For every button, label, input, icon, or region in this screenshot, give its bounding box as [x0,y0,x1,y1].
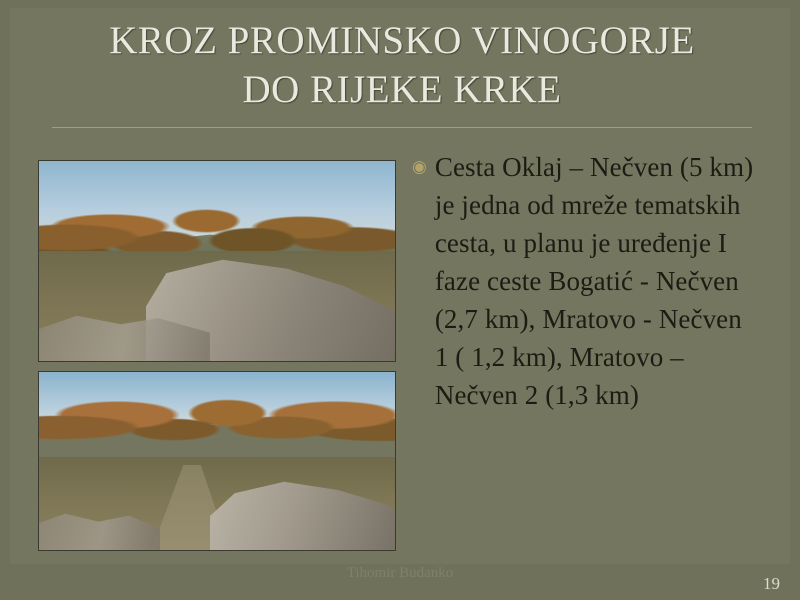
photo-bottom-canvas [39,372,395,550]
bullet-item-text: Cesta Oklaj – Nečven (5 km) je jedna od … [435,148,762,414]
photo-top [38,160,396,362]
title-divider [52,127,752,128]
photo-top-canvas [39,161,395,361]
photo-bottom [38,371,396,551]
presentation-slide: KROZ PROMINSKO VINOGORJE DO RIJEKE KRKE … [0,0,800,600]
page-title: KROZ PROMINSKO VINOGORJE DO RIJEKE KRKE [52,16,752,114]
slide-body: ◉ Cesta Oklaj – Nečven (5 km) je jedna o… [412,148,762,414]
slide-frame-right [790,0,800,600]
slide-frame-left [0,0,10,600]
bullet-item: ◉ Cesta Oklaj – Nečven (5 km) je jedna o… [412,148,762,414]
slide-title-area: KROZ PROMINSKO VINOGORJE DO RIJEKE KRKE [52,16,752,114]
bullet-point-icon: ◉ [412,148,427,186]
slide-number: 19 [763,574,780,594]
slide-frame-top [0,0,800,8]
slide-footer-author: Tihomir Budanko [0,565,800,582]
